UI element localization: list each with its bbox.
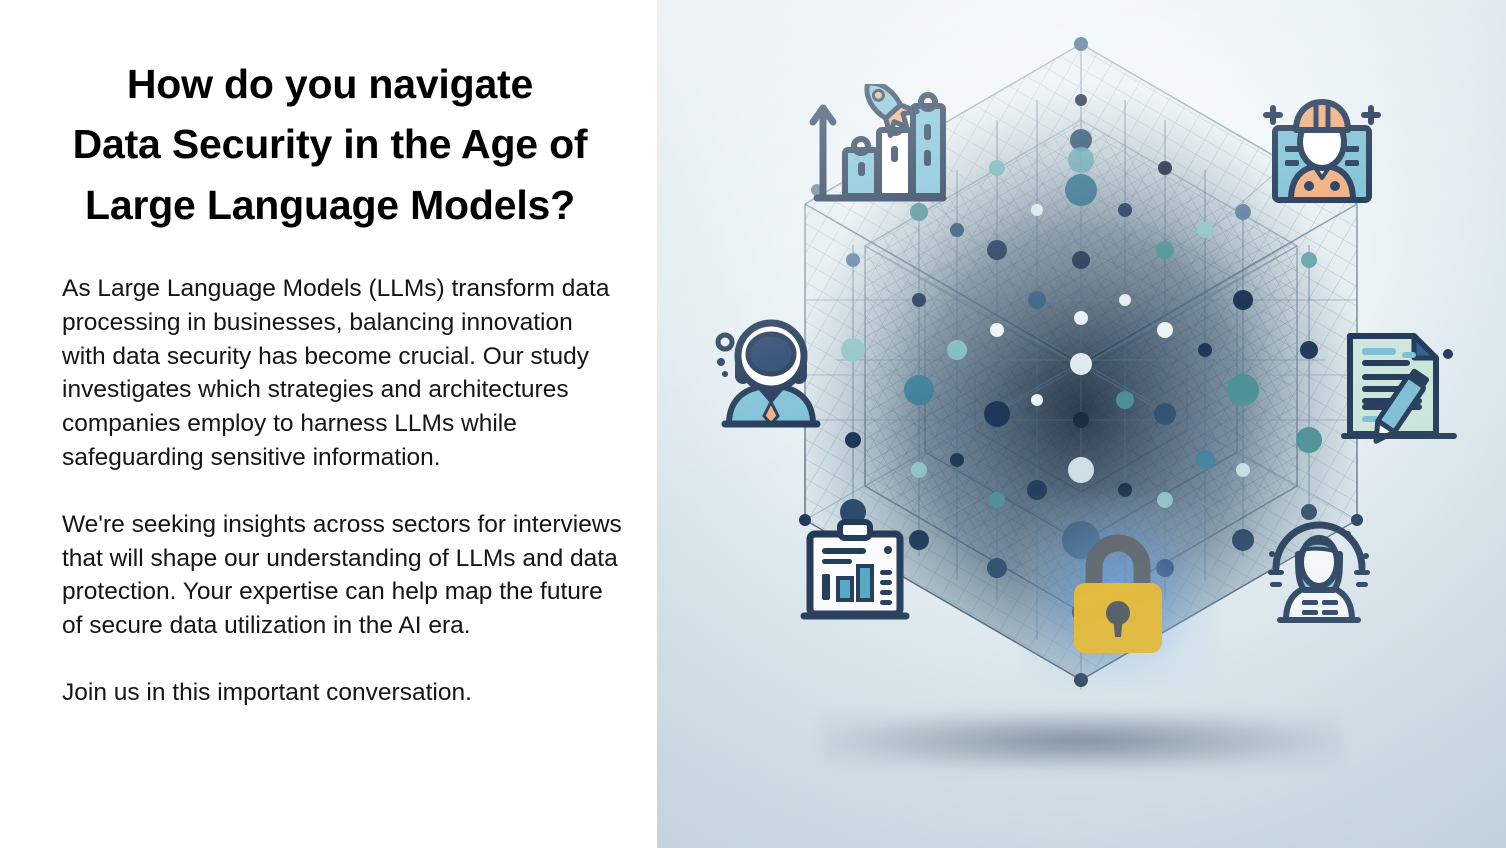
contract-pencil-icon: [1336, 328, 1458, 451]
headline-line-3: Large Language Models?: [85, 182, 575, 228]
artwork-panel: [657, 0, 1506, 848]
page-title: How do you navigate Data Security in the…: [40, 54, 620, 235]
headline-line-1: How do you navigate: [127, 61, 533, 107]
astronaut-icon: [711, 312, 831, 435]
headline-line-2: Data Security in the Age of: [73, 121, 588, 167]
text-column: How do you navigate Data Security in the…: [0, 0, 657, 848]
engineer-icon: [1259, 88, 1385, 213]
paragraph-call: We're seeking insights across sectors fo…: [62, 508, 622, 643]
growth-rocket-icon: [803, 84, 949, 215]
person-icon: [1264, 520, 1374, 629]
slide: How do you navigate Data Security in the…: [0, 0, 1506, 848]
padlock-icon: [1068, 527, 1168, 657]
paragraph-closing: Join us in this important conversation.: [62, 676, 622, 710]
paragraph-intro: As Large Language Models (LLMs) transfor…: [62, 272, 622, 475]
body-copy: As Large Language Models (LLMs) transfor…: [62, 272, 622, 710]
report-clipboard-icon: [798, 518, 912, 631]
